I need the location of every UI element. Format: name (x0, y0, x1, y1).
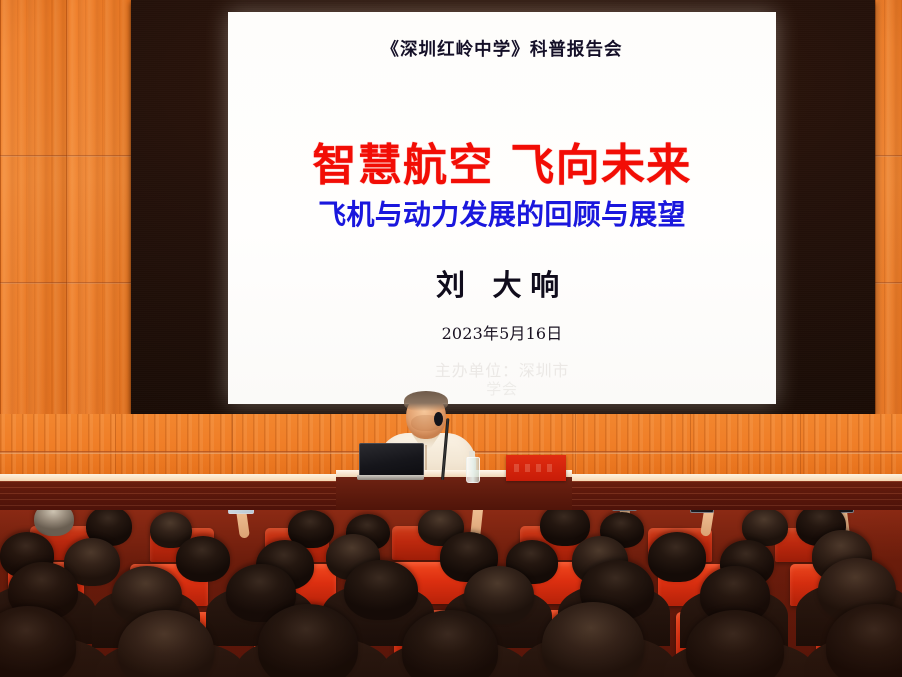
slide-host-line-2: 学会 (228, 378, 776, 399)
projected-slide: 《深圳红岭中学》科普报告会 智慧航空 飞向未来 飞机与动力发展的回顾与展望 刘 … (228, 12, 776, 404)
speaker-hair (404, 391, 448, 411)
audience-area (0, 510, 902, 677)
audience-head (344, 560, 418, 620)
raised-arm (700, 510, 715, 537)
phone-icon (228, 510, 254, 514)
wall-panel (875, 0, 902, 470)
speaker-desk-body (336, 477, 572, 513)
wall-panel (66, 0, 133, 470)
laptop-screen (359, 443, 424, 477)
slide-speaker-name: 刘 大响 (228, 262, 776, 304)
red-nameplate (506, 455, 566, 481)
laptop-icon (357, 443, 424, 480)
bottle-body (466, 457, 480, 483)
slide-main-title: 智慧航空 飞向未来 (228, 129, 776, 193)
water-bottle-icon (466, 451, 478, 481)
auditorium-photo: 《深圳红岭中学》科普报告会 智慧航空 飞向未来 飞机与动力发展的回顾与展望 刘 … (0, 0, 902, 677)
laptop-base (357, 475, 424, 480)
slide-date: 2023年5月16日 (228, 320, 776, 344)
audience-head (176, 536, 230, 582)
slide-header-text: 《深圳红岭中学》科普报告会 (228, 36, 776, 61)
microphone-icon (434, 412, 443, 426)
slide-subtitle: 飞机与动力发展的回顾与展望 (228, 193, 776, 233)
phone-icon (612, 510, 637, 511)
wall-panel (0, 0, 68, 470)
audience-head (648, 532, 706, 582)
audience-head (34, 510, 74, 536)
phone-icon (690, 510, 714, 513)
raised-arm (235, 510, 250, 539)
